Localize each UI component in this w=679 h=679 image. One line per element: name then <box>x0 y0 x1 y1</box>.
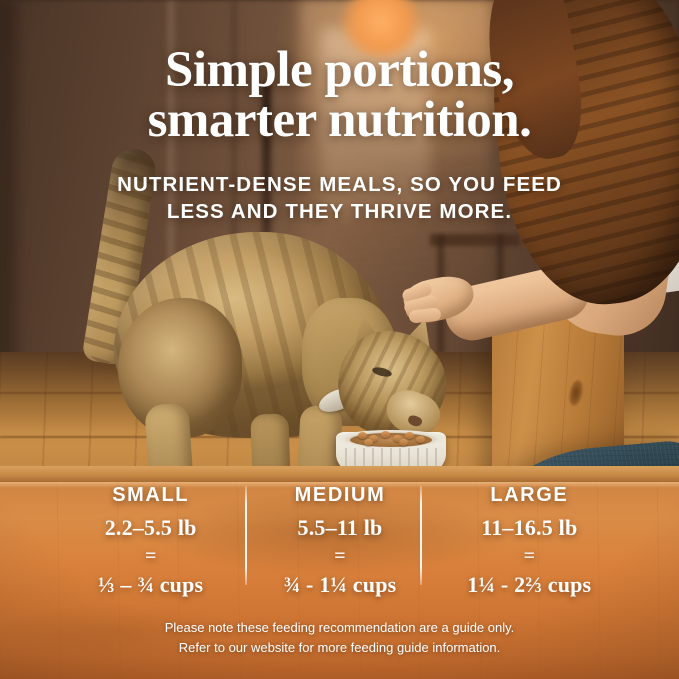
cups-amount-small: ⅓ – ¾ cups <box>56 572 245 598</box>
feeding-column-medium: MEDIUM 5.5–11 lb = ¾ - 1¼ cups <box>245 482 434 588</box>
equals-sign-small: = <box>56 546 245 566</box>
weight-range-medium: 5.5–11 lb <box>245 515 434 541</box>
subheadline-line-1: NUTRIENT-DENSE MEALS, SO YOU FEED <box>117 173 562 196</box>
text-overlay: Simple portions, smarter nutrition. NUTR… <box>0 0 679 679</box>
cups-amount-large: 1¼ - 2⅔ cups <box>435 572 624 598</box>
equals-sign-medium: = <box>245 546 434 566</box>
cups-amount-medium: ¾ - 1¼ cups <box>245 572 434 598</box>
headline: Simple portions, smarter nutrition. <box>0 46 679 146</box>
column-divider-1 <box>245 486 247 585</box>
feeding-guide-table: SMALL 2.2–5.5 lb = ⅓ – ¾ cups MEDIUM 5.5… <box>56 482 624 588</box>
size-label-medium: MEDIUM <box>245 484 434 507</box>
size-label-large: LARGE <box>435 484 624 507</box>
column-divider-2 <box>420 486 422 585</box>
headline-line-2: smarter nutrition. <box>0 96 679 146</box>
disclaimer-footnote: Please note these feeding recommendation… <box>0 618 679 658</box>
feeding-column-large: LARGE 11–16.5 lb = 1¼ - 2⅔ cups <box>435 482 624 588</box>
footnote-line-1: Please note these feeding recommendation… <box>165 620 515 635</box>
weight-range-small: 2.2–5.5 lb <box>56 515 245 541</box>
footnote-line-2: Refer to our website for more feeding gu… <box>0 638 679 658</box>
subheadline-line-2: LESS AND THEY THRIVE MORE. <box>0 199 679 226</box>
headline-line-1: Simple portions, <box>165 42 514 98</box>
advertisement-image: Simple portions, smarter nutrition. NUTR… <box>0 0 679 679</box>
feeding-column-small: SMALL 2.2–5.5 lb = ⅓ – ¾ cups <box>56 482 245 588</box>
size-label-small: SMALL <box>56 484 245 507</box>
equals-sign-large: = <box>435 546 624 566</box>
weight-range-large: 11–16.5 lb <box>435 515 624 541</box>
subheadline: NUTRIENT-DENSE MEALS, SO YOU FEED LESS A… <box>0 172 679 225</box>
